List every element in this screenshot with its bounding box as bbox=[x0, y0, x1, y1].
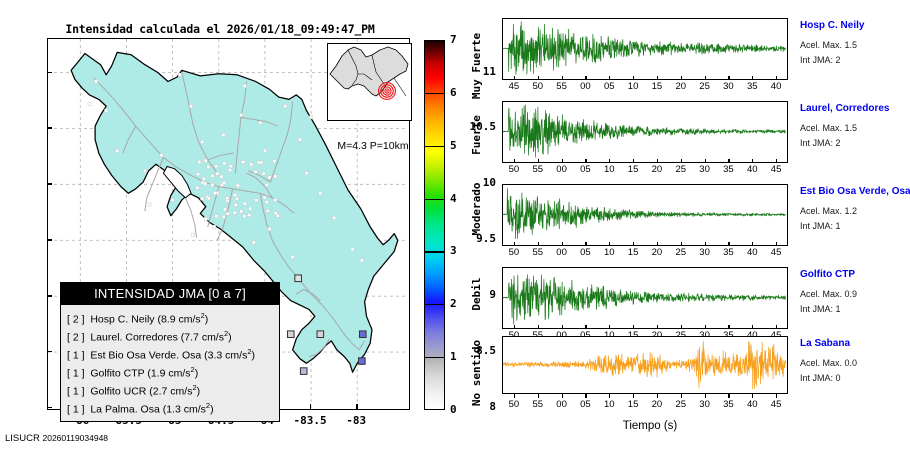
time-tickmark bbox=[538, 242, 539, 246]
legend-item: [ 2 ] Hosp C. Neily (8.9 cm/s2) bbox=[67, 309, 279, 327]
colorbar-tickmark bbox=[424, 304, 445, 305]
time-tick-label: 35 bbox=[715, 164, 741, 175]
time-axis-label: Tiempo (s) bbox=[560, 420, 740, 432]
colorbar-tick-label: 5 bbox=[450, 139, 457, 152]
colorbar-tickmark bbox=[424, 251, 445, 252]
time-tick-label: 05 bbox=[572, 399, 598, 410]
time-tickmark bbox=[585, 242, 586, 246]
map-y-tickmark bbox=[47, 72, 52, 73]
time-tickmark bbox=[705, 325, 706, 329]
legend-rows: [ 2 ] Hosp C. Neily (8.9 cm/s2)[ 2 ] Lau… bbox=[61, 305, 279, 421]
intensity-colorbar bbox=[424, 40, 445, 410]
colorbar-category-label: Muy Fuerte bbox=[470, 33, 483, 99]
time-tickmark bbox=[728, 76, 729, 80]
colorbar-tick-label: 4 bbox=[450, 192, 457, 205]
map-y-tick: 11 bbox=[436, 65, 496, 78]
time-tickmark bbox=[609, 159, 610, 163]
time-tickmark bbox=[585, 76, 586, 80]
map-y-tick: 8 bbox=[436, 400, 496, 413]
time-tickmark bbox=[538, 394, 539, 398]
time-tick-label: 55 bbox=[525, 164, 551, 175]
time-tick-label: 05 bbox=[596, 81, 622, 92]
waveform-int-jma: Int JMA: 1 bbox=[800, 221, 841, 231]
time-tick-label: 15 bbox=[620, 399, 646, 410]
map-y-tick: 10 bbox=[436, 176, 496, 189]
time-tick-label: 25 bbox=[668, 399, 694, 410]
time-tick-label: 05 bbox=[572, 164, 598, 175]
time-tickmark bbox=[514, 394, 515, 398]
time-tickmark bbox=[538, 159, 539, 163]
time-tickmark bbox=[609, 325, 610, 329]
time-tickmark bbox=[633, 394, 634, 398]
legend-item: [ 1 ] La Palma. Osa (1.3 cm/s2) bbox=[67, 399, 279, 417]
time-tick-label: 10 bbox=[620, 81, 646, 92]
waveform-accel-max: Acel. Max. 0.9 bbox=[800, 289, 857, 299]
map-y-tickmark bbox=[47, 127, 52, 128]
time-tickmark bbox=[705, 159, 706, 163]
time-tickmark bbox=[609, 394, 610, 398]
time-tickmark bbox=[776, 159, 777, 163]
colorbar-tick-label: 0 bbox=[450, 403, 457, 416]
time-tickmark bbox=[752, 242, 753, 246]
time-tick-label: 45 bbox=[763, 247, 789, 258]
time-tickmark bbox=[657, 394, 658, 398]
colorbar-tick-label: 2 bbox=[450, 297, 457, 310]
waveform-trace bbox=[503, 19, 786, 78]
page-title: Intensidad calculada el 2026/01/18_09:49… bbox=[0, 22, 440, 36]
waveform-trace bbox=[503, 185, 786, 244]
time-tickmark bbox=[776, 242, 777, 246]
time-tick-label: 40 bbox=[739, 247, 765, 258]
map-x-tickmark bbox=[310, 404, 311, 410]
time-tickmark bbox=[681, 242, 682, 246]
time-tick-label: 25 bbox=[692, 81, 718, 92]
time-tickmark bbox=[681, 325, 682, 329]
waveform-accel-max: Acel. Max. 1.2 bbox=[800, 206, 857, 216]
time-tick-label: 10 bbox=[596, 164, 622, 175]
time-tick-label: 55 bbox=[525, 247, 551, 258]
time-tick-label: 00 bbox=[549, 247, 575, 258]
waveform-station-name[interactable]: Golfito CTP bbox=[800, 269, 855, 280]
intensity-legend: INTENSIDAD JMA [0 a 7] [ 2 ] Hosp C. Nei… bbox=[60, 282, 280, 422]
time-tickmark bbox=[657, 76, 658, 80]
time-tickmark bbox=[776, 325, 777, 329]
time-tick-label: 50 bbox=[501, 247, 527, 258]
time-tick-label: 05 bbox=[572, 247, 598, 258]
time-tick-label: 55 bbox=[525, 399, 551, 410]
colorbar-tickmark bbox=[424, 199, 445, 200]
time-tickmark bbox=[585, 325, 586, 329]
map-y-tick: 10.5 bbox=[436, 120, 496, 133]
time-tickmark bbox=[633, 242, 634, 246]
time-tick-label: 40 bbox=[739, 164, 765, 175]
time-tickmark bbox=[562, 76, 563, 80]
time-tickmark bbox=[514, 242, 515, 246]
colorbar-tick-label: 3 bbox=[450, 244, 457, 257]
time-tickmark bbox=[705, 76, 706, 80]
waveform-station-name[interactable]: La Sabana bbox=[800, 338, 850, 349]
time-tickmark bbox=[776, 394, 777, 398]
time-tickmark bbox=[514, 159, 515, 163]
time-tick-label: 30 bbox=[715, 81, 741, 92]
time-tickmark bbox=[728, 394, 729, 398]
map-y-tickmark bbox=[47, 239, 52, 240]
time-tick-label: 50 bbox=[525, 81, 551, 92]
waveform-int-jma: Int JMA: 2 bbox=[800, 55, 841, 65]
time-tickmark bbox=[752, 76, 753, 80]
waveform-time-axis: 455055000510152025303540 bbox=[502, 80, 788, 96]
time-tick-label: 25 bbox=[668, 164, 694, 175]
time-tickmark bbox=[681, 394, 682, 398]
waveform-time-axis: 505500051015202530354045 bbox=[502, 246, 788, 262]
time-tickmark bbox=[752, 159, 753, 163]
time-tick-label: 00 bbox=[572, 81, 598, 92]
waveform-panel[interactable] bbox=[502, 101, 788, 163]
time-tick-label: 50 bbox=[501, 399, 527, 410]
waveform-station-name[interactable]: Laurel, Corredores bbox=[800, 103, 889, 114]
colorbar-category-label: Fuerte bbox=[470, 115, 483, 155]
waveform-panel[interactable] bbox=[502, 336, 788, 394]
time-tickmark bbox=[562, 325, 563, 329]
waveform-accel-max: Acel. Max. 1.5 bbox=[800, 123, 857, 133]
map-y-tick: 8.5 bbox=[436, 344, 496, 357]
time-tick-label: 10 bbox=[596, 247, 622, 258]
time-tickmark bbox=[538, 76, 539, 80]
time-tickmark bbox=[752, 325, 753, 329]
time-tickmark bbox=[538, 325, 539, 329]
colorbar-tickmark bbox=[424, 357, 445, 358]
time-tickmark bbox=[657, 242, 658, 246]
time-tick-label: 30 bbox=[692, 247, 718, 258]
time-tickmark bbox=[633, 325, 634, 329]
time-tick-label: 30 bbox=[692, 399, 718, 410]
legend-item: [ 2 ] Laurel. Corredores (7.7 cm/s2) bbox=[67, 327, 279, 345]
map-y-tickmark bbox=[47, 183, 52, 184]
time-tick-label: 45 bbox=[763, 164, 789, 175]
inset-caption: M=4.3 P=10km bbox=[318, 140, 428, 152]
time-tick-label: 55 bbox=[549, 81, 575, 92]
colorbar-category-label: Debil bbox=[470, 277, 483, 310]
time-tick-label: 15 bbox=[620, 247, 646, 258]
time-tickmark bbox=[562, 394, 563, 398]
legend-item: [ 1 ] Golfito UCR (2.7 cm/s2) bbox=[67, 381, 279, 399]
waveform-time-axis: 505500051015202530354045 bbox=[502, 163, 788, 179]
time-tickmark bbox=[657, 325, 658, 329]
map-x-tickmark bbox=[356, 404, 357, 410]
map-y-tick: 9.5 bbox=[436, 232, 496, 245]
time-tick-label: 20 bbox=[644, 164, 670, 175]
time-tickmark bbox=[728, 242, 729, 246]
time-tick-label: 20 bbox=[644, 247, 670, 258]
waveform-panel[interactable] bbox=[502, 184, 788, 246]
time-tick-label: 30 bbox=[692, 164, 718, 175]
waveform-int-jma: Int JMA: 1 bbox=[800, 304, 841, 314]
time-tickmark bbox=[609, 76, 610, 80]
time-tick-label: 15 bbox=[644, 81, 670, 92]
time-tick-label: 35 bbox=[715, 399, 741, 410]
time-tick-label: 35 bbox=[739, 81, 765, 92]
time-tickmark bbox=[514, 76, 515, 80]
waveform-panel[interactable] bbox=[502, 18, 788, 80]
waveform-int-jma: Int JMA: 2 bbox=[800, 138, 841, 148]
time-tickmark bbox=[562, 159, 563, 163]
legend-item: [ 1 ] Est Bio Osa Verde. Osa (3.3 cm/s2) bbox=[67, 345, 279, 363]
map-y-tickmark bbox=[47, 351, 52, 352]
legend-item: [ 1 ] Golfito CTP (1.9 cm/s2) bbox=[67, 363, 279, 381]
map-x-tick: -83 bbox=[326, 414, 386, 427]
time-tickmark bbox=[705, 242, 706, 246]
map-y-tickmark bbox=[47, 295, 52, 296]
time-tick-label: 40 bbox=[739, 399, 765, 410]
waveform-station-name[interactable]: Est Bio Osa Verde, Osa bbox=[800, 186, 910, 197]
colorbar-tickmark bbox=[424, 146, 445, 147]
time-tickmark bbox=[514, 325, 515, 329]
time-tickmark bbox=[633, 159, 634, 163]
waveform-int-jma: Int JMA: 0 bbox=[800, 373, 841, 383]
time-tickmark bbox=[633, 76, 634, 80]
epicenter-inset-map[interactable] bbox=[327, 43, 412, 121]
waveform-station-name[interactable]: Hosp C. Neily bbox=[800, 20, 864, 31]
map-y-tick: 9 bbox=[436, 288, 496, 301]
time-tick-label: 45 bbox=[501, 81, 527, 92]
time-tick-label: 25 bbox=[668, 247, 694, 258]
time-tickmark bbox=[776, 76, 777, 80]
time-tick-label: 15 bbox=[620, 164, 646, 175]
colorbar-category-label: No sentido bbox=[470, 340, 483, 406]
waveform-trace bbox=[503, 268, 786, 327]
waveform-panel[interactable] bbox=[502, 267, 788, 329]
colorbar-tick-label: 7 bbox=[450, 33, 457, 46]
time-tickmark bbox=[609, 242, 610, 246]
time-tickmark bbox=[657, 159, 658, 163]
time-tickmark bbox=[681, 76, 682, 80]
time-tick-label: 20 bbox=[644, 399, 670, 410]
inset-graphic bbox=[328, 44, 410, 119]
legend-header: INTENSIDAD JMA [0 a 7] bbox=[61, 283, 279, 305]
time-tick-label: 00 bbox=[549, 399, 575, 410]
waveform-accel-max: Acel. Max. 1.5 bbox=[800, 40, 857, 50]
map-y-tickmark bbox=[47, 407, 52, 408]
time-tickmark bbox=[728, 159, 729, 163]
time-tick-label: 45 bbox=[763, 399, 789, 410]
time-tickmark bbox=[585, 394, 586, 398]
colorbar-tickmark bbox=[424, 93, 445, 94]
waveform-time-axis: 505500051015202530354045 bbox=[502, 398, 788, 414]
footer-agency: LISUCR bbox=[5, 433, 40, 444]
footer-credit: LISUCR 20260119034948 bbox=[5, 433, 108, 444]
footer-id: 20260119034948 bbox=[42, 433, 108, 443]
time-tickmark bbox=[585, 159, 586, 163]
colorbar-tick-label: 1 bbox=[450, 350, 457, 363]
time-tick-label: 00 bbox=[549, 164, 575, 175]
time-tick-label: 10 bbox=[596, 399, 622, 410]
time-tick-label: 40 bbox=[763, 81, 789, 92]
time-tick-label: 35 bbox=[715, 247, 741, 258]
time-tickmark bbox=[705, 394, 706, 398]
time-tickmark bbox=[562, 242, 563, 246]
colorbar-tick-label: 6 bbox=[450, 86, 457, 99]
colorbar-category-label: Moderado bbox=[470, 183, 483, 236]
time-tickmark bbox=[752, 394, 753, 398]
time-tickmark bbox=[728, 325, 729, 329]
waveform-accel-max: Acel. Max. 0.0 bbox=[800, 358, 857, 368]
waveform-trace bbox=[503, 337, 786, 392]
time-tickmark bbox=[681, 159, 682, 163]
waveform-trace bbox=[503, 102, 786, 161]
time-tick-label: 20 bbox=[668, 81, 694, 92]
time-tick-label: 50 bbox=[501, 164, 527, 175]
